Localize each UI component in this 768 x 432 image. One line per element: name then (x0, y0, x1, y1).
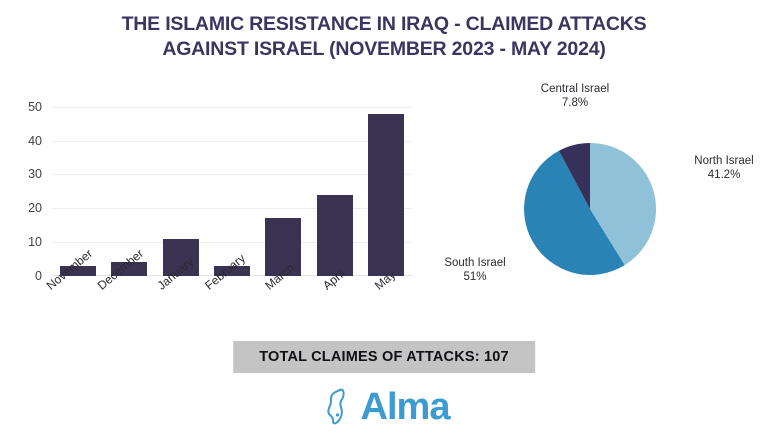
pie-label-central-israel: Central Israel 7.8% (520, 82, 630, 110)
bar-chart-bar-slot (155, 100, 206, 276)
pie-label-central-israel-name: Central Israel (541, 83, 609, 95)
alma-logo: Alma (319, 386, 450, 428)
bar-chart-x-slot: April (309, 280, 360, 332)
bar-chart-bar[interactable] (317, 195, 353, 276)
bar-chart-x-slot: November (52, 280, 103, 332)
bar-chart-x-slot: May (361, 280, 412, 332)
bar-chart-y-tick-label: 0 (35, 269, 42, 283)
bar-chart-bar-slot (103, 100, 154, 276)
bar-chart-y-axis: 01020304050 (8, 100, 48, 276)
pie-label-north-israel: North Israel 41.2% (678, 154, 768, 182)
alma-logo-text: Alma (361, 388, 450, 426)
bar-chart-x-slot: March (258, 280, 309, 332)
bar-chart-bar-slot (258, 100, 309, 276)
total-attacks-banner: TOTAL CLAIMES OF ATTACKS: 107 (233, 341, 535, 373)
bar-chart: 01020304050 NovemberDecemberJanuaryFebru… (8, 92, 420, 332)
infographic-page: THE ISLAMIC RESISTANCE IN IRAQ - CLAIMED… (0, 0, 768, 432)
page-title-line-2: AGAINST ISRAEL (NOVEMBER 2023 - MAY 2024… (24, 37, 744, 62)
bar-chart-bar-slot (309, 100, 360, 276)
page-title-line-1: THE ISLAMIC RESISTANCE IN IRAQ - CLAIMED… (24, 12, 744, 37)
bar-chart-bars (52, 100, 412, 276)
pie-chart-svg (420, 78, 768, 340)
page-title: THE ISLAMIC RESISTANCE IN IRAQ - CLAIMED… (24, 12, 744, 62)
pie-chart: Central Israel 7.8% North Israel 41.2% S… (420, 78, 768, 340)
pie-label-central-israel-percent: 7.8% (520, 96, 630, 110)
israel-map-outline-icon (319, 386, 359, 428)
pie-label-south-israel-percent: 51% (420, 270, 530, 284)
bar-chart-x-slot: February (206, 280, 257, 332)
bar-chart-x-slot: December (103, 280, 154, 332)
bar-chart-x-slot: January (155, 280, 206, 332)
pie-label-south-israel: South Israel 51% (420, 256, 530, 284)
bar-chart-y-tick-label: 40 (28, 134, 42, 148)
bar-chart-y-tick-label: 10 (28, 235, 42, 249)
bar-chart-y-tick-label: 50 (28, 100, 42, 114)
bar-chart-bar[interactable] (368, 114, 404, 276)
bar-chart-bar-slot (52, 100, 103, 276)
bar-chart-y-tick-label: 30 (28, 167, 42, 181)
bar-chart-plot-area (52, 100, 412, 276)
bar-chart-x-axis: NovemberDecemberJanuaryFebruaryMarchApri… (52, 280, 412, 332)
bar-chart-y-tick-label: 20 (28, 201, 42, 215)
pie-label-north-israel-name: North Israel (694, 155, 753, 167)
pie-label-south-israel-name: South Israel (444, 257, 505, 269)
bar-chart-bar-slot (206, 100, 257, 276)
bar-chart-bar-slot (361, 100, 412, 276)
pie-label-north-israel-percent: 41.2% (678, 168, 768, 182)
